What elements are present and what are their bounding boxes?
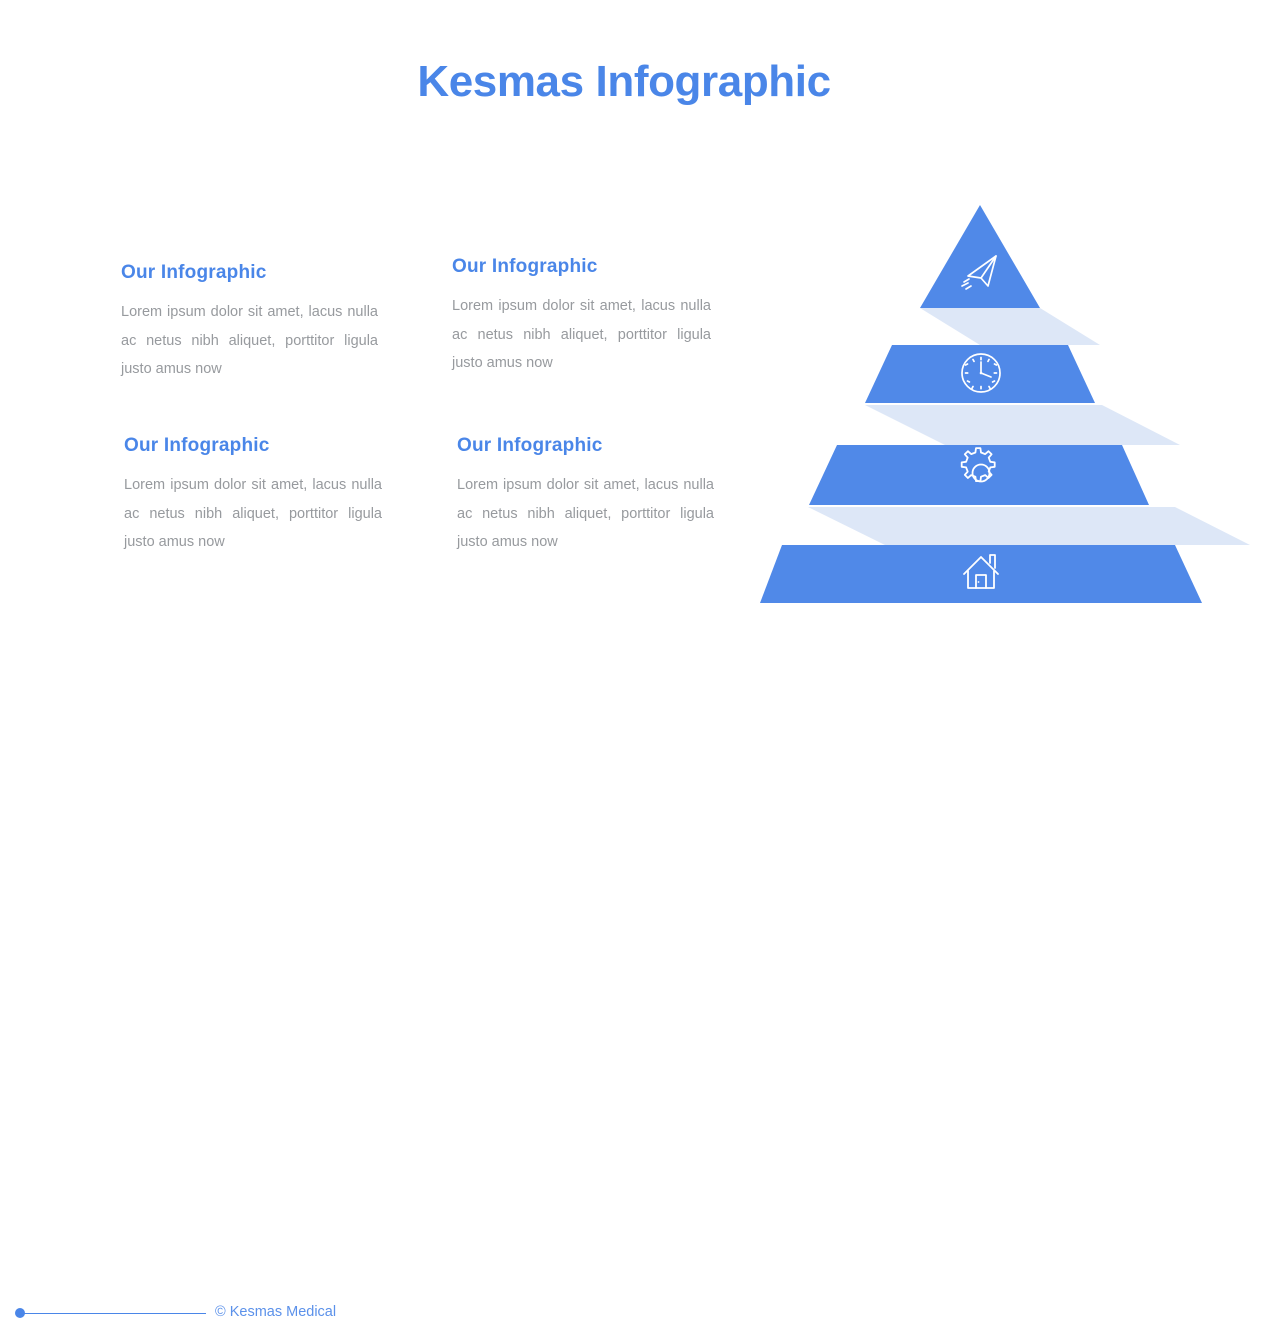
pyramid-level-1[interactable] (920, 205, 1040, 308)
info-block-2: Our Infographic Lorem ipsum dolor sit am… (452, 256, 711, 378)
pyramid-level-3-shape (809, 445, 1149, 505)
pyramid-shadow-2 (865, 405, 1180, 445)
info-block-1: Our Infographic Lorem ipsum dolor sit am… (121, 262, 378, 384)
pyramid-level-2[interactable] (865, 345, 1095, 403)
info-block-1-heading: Our Infographic (121, 262, 378, 284)
info-block-4-body: Lorem ipsum dolor sit amet, lacus nulla … (457, 471, 714, 557)
info-block-3: Our Infographic Lorem ipsum dolor sit am… (124, 435, 382, 557)
pyramid-level-3[interactable] (809, 445, 1149, 505)
footer-divider-line (24, 1313, 206, 1315)
info-block-4-heading: Our Infographic (457, 435, 714, 457)
pyramid-level-4[interactable] (760, 545, 1202, 603)
pyramid-shadow-1 (920, 308, 1100, 345)
info-block-3-body: Lorem ipsum dolor sit amet, lacus nulla … (124, 471, 382, 557)
clock-icon (962, 354, 1000, 392)
pyramid-diagram (740, 190, 1230, 620)
pyramid-level-1-shape (920, 205, 1040, 308)
footer-copyright: © Kesmas Medical (215, 1304, 336, 1320)
info-block-3-heading: Our Infographic (124, 435, 382, 457)
page-title: Kesmas Infographic (0, 57, 1248, 107)
pyramid-level-4-shape (760, 545, 1202, 603)
info-block-2-body: Lorem ipsum dolor sit amet, lacus nulla … (452, 292, 711, 378)
footer: © Kesmas Medical (0, 650, 1280, 680)
info-block-4: Our Infographic Lorem ipsum dolor sit am… (457, 435, 714, 557)
info-block-2-heading: Our Infographic (452, 256, 711, 278)
pyramid-shadow-3 (808, 507, 1250, 545)
info-block-1-body: Lorem ipsum dolor sit amet, lacus nulla … (121, 298, 378, 384)
